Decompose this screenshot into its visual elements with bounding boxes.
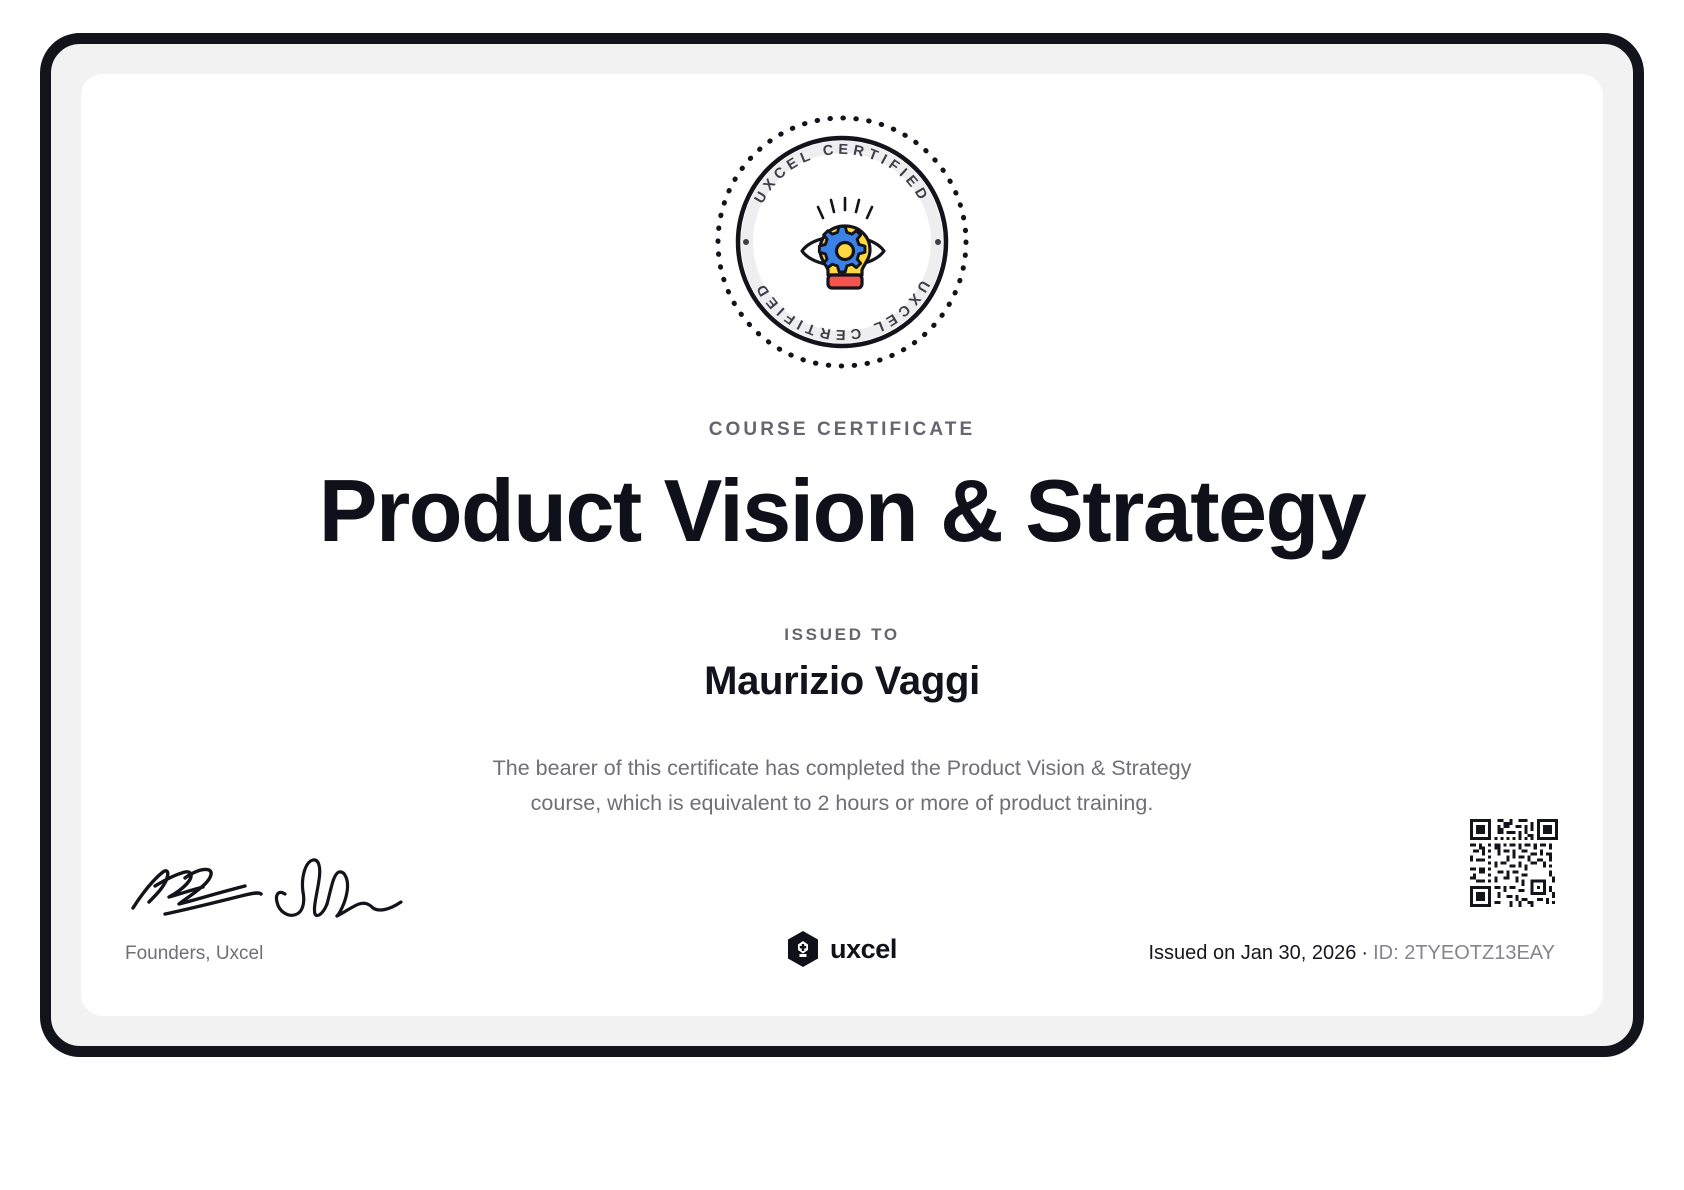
signature-svg	[125, 842, 425, 922]
gear-shape	[819, 226, 865, 272]
uxcel-wordmark: uxcel	[830, 934, 897, 965]
issue-separator: ·	[1361, 942, 1368, 964]
issued-on-date: Issued on Jan 30, 2026	[1148, 942, 1356, 964]
founders-label: Founders, Uxcel	[125, 943, 263, 965]
uxcel-certified-seal: UXCEL CERTIFIED UXCEL CERTIFIED	[712, 112, 972, 372]
page-title: Product Vision & Strategy	[81, 459, 1603, 563]
verification-qr-code[interactable]	[1470, 819, 1558, 907]
founder-signatures	[125, 842, 425, 922]
uxcel-brand-logo: uxcel	[787, 931, 897, 967]
qr-code-svg[interactable]	[1470, 819, 1558, 907]
issue-info: Issued on Jan 30, 2026·ID: 2TYEOTZ13EAY	[1148, 942, 1555, 965]
certificate-description: The bearer of this certificate has compl…	[462, 751, 1222, 821]
uxcel-hexagon-icon	[787, 931, 819, 967]
certificate-frame: UXCEL CERTIFIED UXCEL CERTIFIED	[40, 33, 1644, 1057]
issued-to-label: ISSUED TO	[81, 625, 1603, 645]
seal-dot-left	[743, 239, 749, 245]
seal-dot-right	[935, 239, 941, 245]
bulb-base	[828, 275, 862, 288]
eyebrow-label: COURSE CERTIFICATE	[81, 419, 1603, 441]
signature-two	[276, 860, 401, 916]
certificate-id: ID: 2TYEOTZ13EAY	[1373, 942, 1555, 964]
signature-one	[133, 869, 261, 914]
certificate-card: UXCEL CERTIFIED UXCEL CERTIFIED	[81, 74, 1603, 1016]
recipient-name: Maurizio Vaggi	[81, 659, 1603, 704]
seal-svg: UXCEL CERTIFIED UXCEL CERTIFIED	[712, 112, 972, 372]
